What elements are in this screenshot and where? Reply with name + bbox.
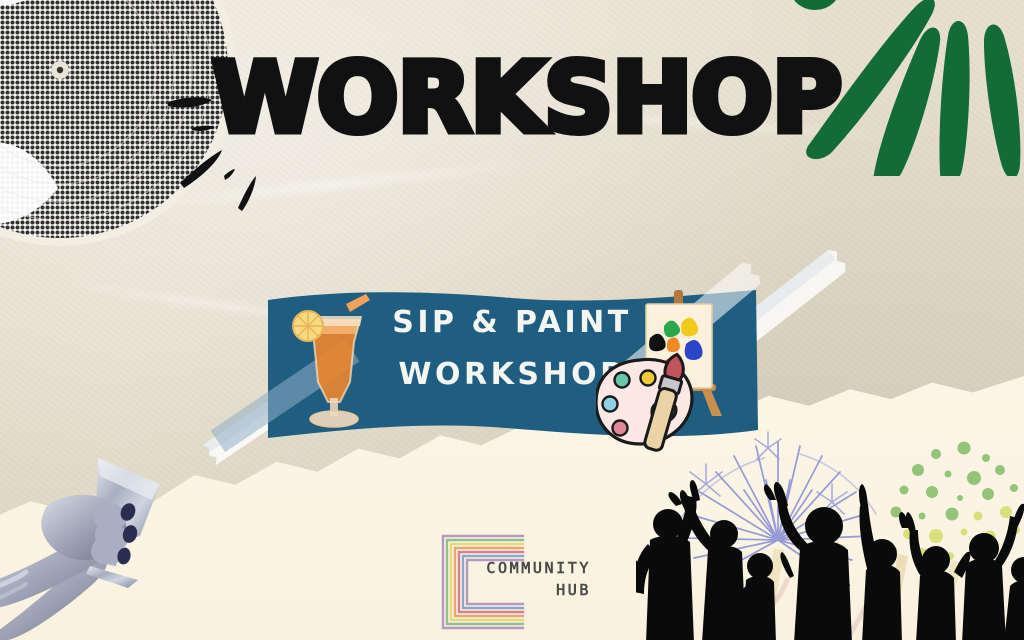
logo-name-line-1: COMMUNITY bbox=[486, 559, 591, 577]
party-crowd-silhouette-icon bbox=[636, 468, 1024, 640]
banner: SIP & PAINT WORKSHOP bbox=[262, 282, 762, 450]
logo-name-line-2: HUB bbox=[486, 580, 591, 602]
logo-text-block: COMMUNITY HUB bbox=[486, 558, 591, 602]
community-hub-logo[interactable]: COMMUNITY HUB bbox=[437, 532, 597, 632]
banner-line-1: SIP & PAINT bbox=[382, 308, 642, 338]
cocktail-glass-icon bbox=[284, 286, 384, 436]
poster-canvas: WORKSHOP bbox=[0, 0, 1024, 640]
page-title: WORKSHOP bbox=[212, 54, 841, 142]
black-spark-dashes-icon bbox=[160, 78, 280, 213]
hands-holding-goblet-icon bbox=[0, 440, 200, 640]
